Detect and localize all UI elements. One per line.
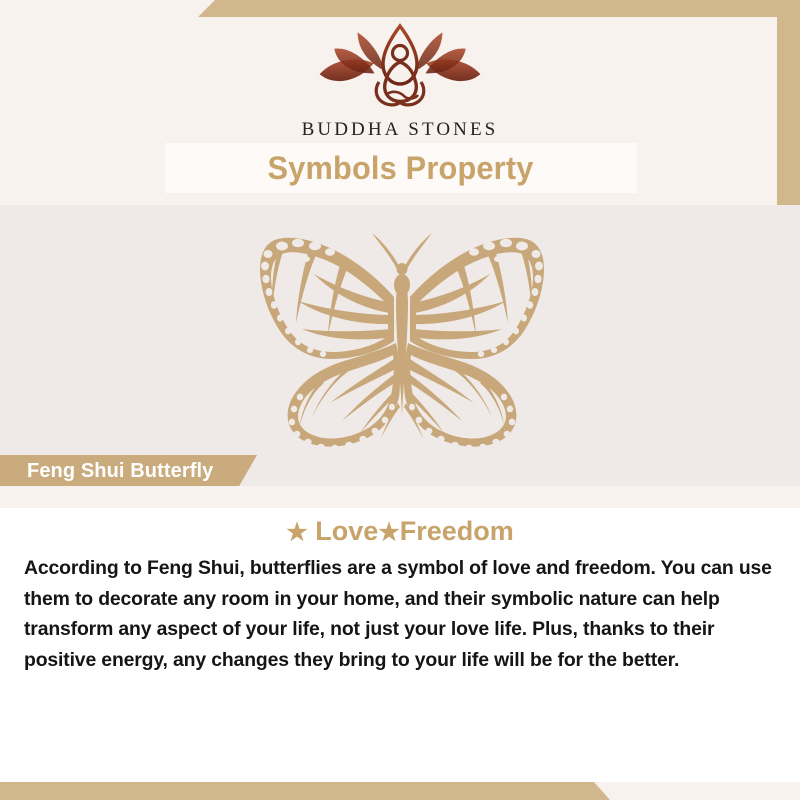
content-area: ★ Love★Freedom According to Feng Shui, b… [0, 508, 800, 782]
butterfly-icon [222, 219, 582, 459]
tagline-word-love: Love [308, 516, 379, 546]
feng-shui-butterfly-banner: Feng Shui Butterfly [0, 455, 257, 488]
star-icon-middle: ★ [378, 519, 400, 546]
symbol-panel [0, 205, 800, 486]
page-title: Symbols Property [268, 150, 534, 187]
decor-divider-strip [0, 486, 800, 508]
brand-logo: BUDDHA STONES [0, 22, 800, 141]
decor-top-band [0, 0, 800, 17]
page-root: BUDDHA STONES Symbols Property [0, 0, 800, 800]
banner-label: Feng Shui Butterfly [27, 460, 213, 483]
brand-name: BUDDHA STONES [0, 119, 800, 141]
lotus-meditation-figure-icon [305, 22, 495, 117]
title-band: Symbols Property [165, 143, 637, 193]
tagline-word-freedom: Freedom [400, 516, 514, 546]
tagline: ★ Love★Freedom [0, 516, 800, 547]
star-icon-left: ★ [286, 519, 308, 546]
body-paragraph: According to Feng Shui, butterflies are … [24, 553, 784, 675]
decor-bottom-band [0, 782, 610, 800]
